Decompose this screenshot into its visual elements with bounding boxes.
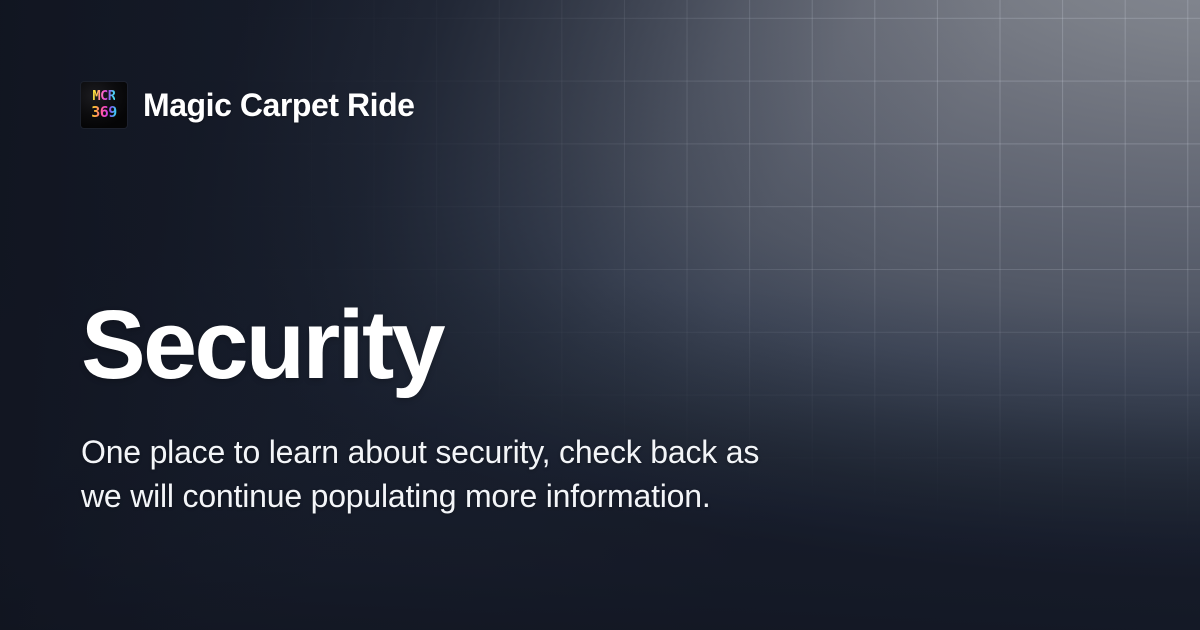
- page-subtitle: One place to learn about security, check…: [81, 431, 791, 518]
- logo-text-mcr: MCR: [93, 90, 116, 104]
- og-share-card: MCR 369 Magic Carpet Ride Security One p…: [0, 0, 1200, 630]
- page-title: Security: [81, 296, 821, 393]
- mcr369-logo-icon: MCR 369: [81, 82, 127, 128]
- hero-section: Security One place to learn about securi…: [81, 296, 821, 518]
- brand-name-label: Magic Carpet Ride: [143, 87, 415, 124]
- brand-lockup[interactable]: MCR 369 Magic Carpet Ride: [81, 82, 415, 128]
- logo-text-369: 369: [91, 105, 117, 120]
- card-content: MCR 369 Magic Carpet Ride Security One p…: [0, 0, 1200, 630]
